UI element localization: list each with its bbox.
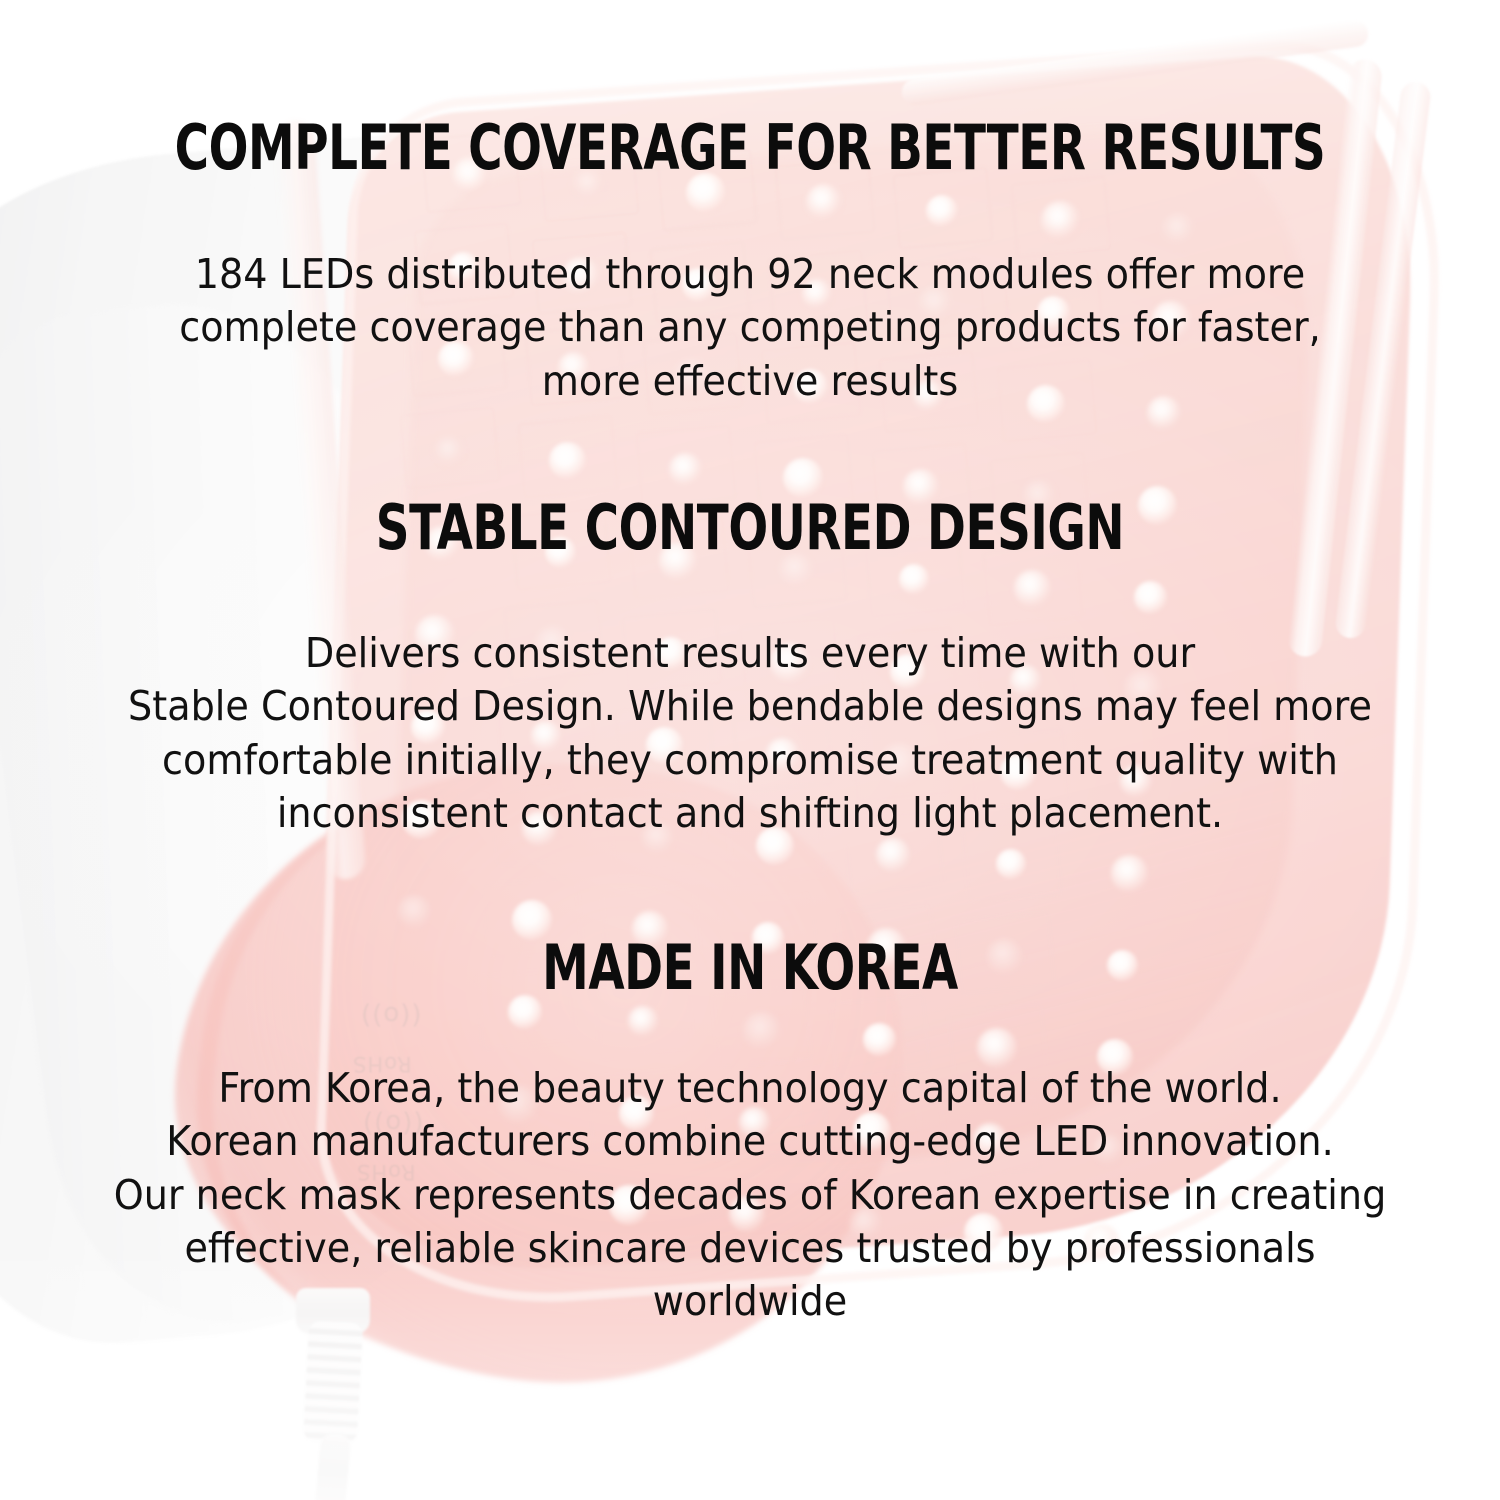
body-coverage-line-3: more effective results bbox=[146, 355, 1355, 408]
body-korea-line-5: worldwide bbox=[99, 1275, 1401, 1328]
heading-stable-contoured-design: STABLE CONTOURED DESIGN bbox=[120, 497, 1380, 559]
body-design-line-2: Stable Contoured Design. While bendable … bbox=[118, 680, 1383, 733]
body-korea-line-1: From Korea, the beauty technology capita… bbox=[99, 1062, 1401, 1115]
body-made-in-korea: From Korea, the beauty technology capita… bbox=[99, 1062, 1401, 1328]
body-coverage-line-1: 184 LEDs distributed through 92 neck mod… bbox=[146, 248, 1355, 301]
body-complete-coverage: 184 LEDs distributed through 92 neck mod… bbox=[146, 248, 1355, 408]
heading-complete-coverage: COMPLETE COVERAGE FOR BETTER RESULTS bbox=[120, 117, 1380, 179]
body-design-line-3: comfortable initially, they compromise t… bbox=[118, 734, 1383, 787]
body-korea-line-2: Korean manufacturers combine cutting-edg… bbox=[99, 1115, 1401, 1168]
body-korea-line-3: Our neck mask represents decades of Kore… bbox=[99, 1169, 1401, 1222]
infographic-canvas: RoHS RoHS ((o)) ((o)) COMPLETE COVERAGE … bbox=[0, 0, 1500, 1500]
body-design-line-4: inconsistent contact and shifting light … bbox=[118, 787, 1383, 840]
heading-made-in-korea: MADE IN KOREA bbox=[120, 937, 1380, 999]
body-korea-line-4: effective, reliable skincare devices tru… bbox=[99, 1222, 1401, 1275]
body-stable-contoured-design: Delivers consistent results every time w… bbox=[118, 627, 1383, 840]
body-design-line-1: Delivers consistent results every time w… bbox=[118, 627, 1383, 680]
feature-text-overlay: COMPLETE COVERAGE FOR BETTER RESULTS 184… bbox=[0, 0, 1500, 1500]
body-coverage-line-2: complete coverage than any competing pro… bbox=[146, 301, 1355, 354]
